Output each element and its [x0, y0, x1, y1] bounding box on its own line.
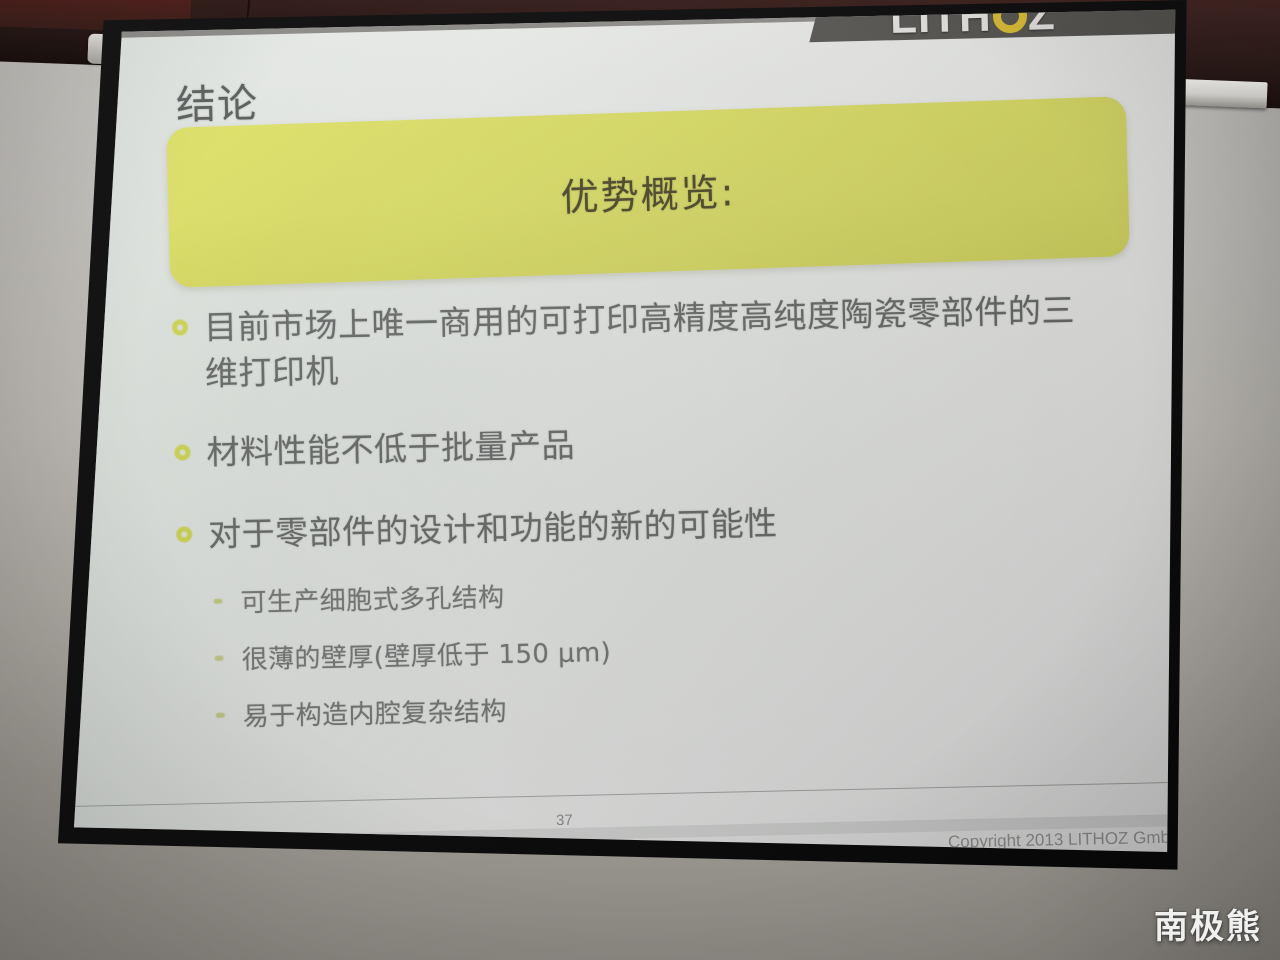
ring-bullet-icon	[176, 526, 192, 542]
bullet-text: 材料性能不低于批量产品	[206, 423, 575, 476]
list-item: 对于零部件的设计和功能的新的可能性	[176, 493, 1137, 558]
bullet-text: 对于零部件的设计和功能的新的可能性	[208, 500, 778, 557]
sub-bullet-list: 可生产细胞式多孔结构 很薄的壁厚(壁厚低于 150 μm) 易于构造内腔复杂结构	[213, 564, 1140, 734]
dash-bullet-icon	[216, 713, 225, 718]
slide-background: LITHZ 结论 优势概览: 目前市场上唯一商用的可打印高精度高纯度陶瓷零部件的…	[58, 0, 1198, 882]
bullet-list: 目前市场上唯一商用的可打印高精度高纯度陶瓷零部件的三维打印机 材料性能不低于批量…	[172, 286, 1141, 754]
sub-bullet-text: 易于构造内腔复杂结构	[242, 691, 507, 733]
ring-bullet-icon	[172, 319, 188, 335]
watermark: 南极熊	[1154, 899, 1262, 948]
slide-surface: LITHZ 结论 优势概览: 目前市场上唯一商用的可打印高精度高纯度陶瓷零部件的…	[58, 0, 1198, 882]
projection-screen: LITHZ 结论 优势概览: 目前市场上唯一商用的可打印高精度高纯度陶瓷零部件的…	[0, 0, 1280, 960]
projector-screen-photo: LITHZ 结论 优势概览: 目前市场上唯一商用的可打印高精度高纯度陶瓷零部件的…	[0, 0, 1280, 960]
list-item: 可生产细胞式多孔结构	[213, 564, 1138, 620]
dash-bullet-icon	[215, 656, 224, 661]
sub-bullet-text: 很薄的壁厚(壁厚低于 150 μm)	[241, 632, 611, 676]
advantages-banner: 优势概览:	[166, 96, 1130, 288]
list-item: 目前市场上唯一商用的可打印高精度高纯度陶瓷零部件的三维打印机	[172, 286, 1134, 396]
dash-bullet-icon	[213, 599, 222, 604]
list-item: 材料性能不低于批量产品	[174, 411, 1135, 476]
bullet-text: 目前市场上唯一商用的可打印高精度高纯度陶瓷零部件的三维打印机	[204, 287, 1106, 396]
list-item: 很薄的壁厚(壁厚低于 150 μm)	[214, 621, 1139, 677]
slide-title: 结论	[175, 71, 258, 131]
list-item: 易于构造内腔复杂结构	[215, 678, 1140, 734]
sub-bullet-text: 可生产细胞式多孔结构	[240, 577, 505, 619]
ring-bullet-icon	[174, 444, 190, 460]
footer-divider	[70, 782, 1190, 807]
slide-number: 37	[556, 812, 573, 829]
banner-title: 优势概览:	[168, 148, 1129, 235]
